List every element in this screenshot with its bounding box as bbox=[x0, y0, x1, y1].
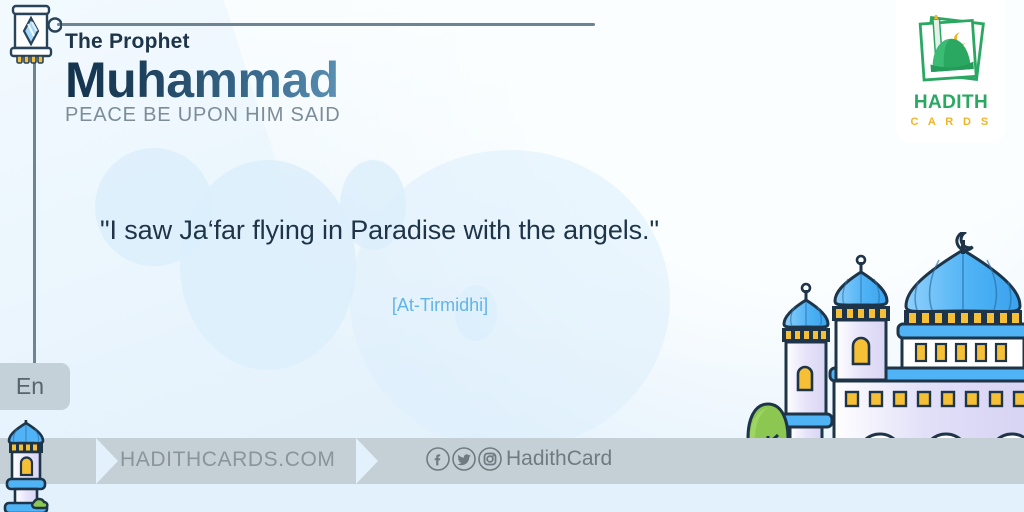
hadith-card: The Prophet Muhammad PEACE BE UPON HIM S… bbox=[0, 0, 1024, 512]
language-badge-label: En bbox=[16, 373, 44, 400]
prophet-label: The Prophet bbox=[65, 30, 340, 53]
footer-website-link[interactable]: HADITHCARDS.COM bbox=[120, 448, 336, 472]
header-rule-horizontal bbox=[57, 23, 595, 26]
hadith-quote-text: "I saw Ja‘far flying in Paradise with th… bbox=[100, 212, 780, 248]
instagram-icon[interactable] bbox=[477, 446, 503, 472]
logo-text-cards: C A R D S bbox=[910, 116, 991, 128]
language-badge[interactable]: En bbox=[0, 363, 70, 410]
mosque-cards-logo-icon bbox=[909, 12, 993, 88]
prophet-name: Muhammad bbox=[65, 55, 340, 106]
footer-social-handle[interactable]: HadithCard bbox=[506, 447, 612, 471]
footer-ground-strip bbox=[0, 484, 1024, 512]
background-blob bbox=[180, 160, 356, 370]
hadith-cards-logo[interactable]: HADITH C A R D S bbox=[896, 0, 1006, 143]
facebook-icon[interactable] bbox=[425, 446, 451, 472]
twitter-icon[interactable] bbox=[451, 446, 477, 472]
lantern-icon bbox=[6, 4, 62, 66]
header-rule-vertical bbox=[33, 62, 36, 372]
honorific-label: PEACE BE UPON HIM SAID bbox=[65, 104, 340, 127]
minaret-icon bbox=[0, 420, 56, 512]
hadith-source: [At-Tirmidhi] bbox=[100, 295, 780, 316]
logo-text-hadith: HADITH bbox=[914, 92, 988, 114]
card-header: The Prophet Muhammad PEACE BE UPON HIM S… bbox=[65, 30, 340, 127]
footer-social-group: HadithCard bbox=[425, 446, 612, 472]
